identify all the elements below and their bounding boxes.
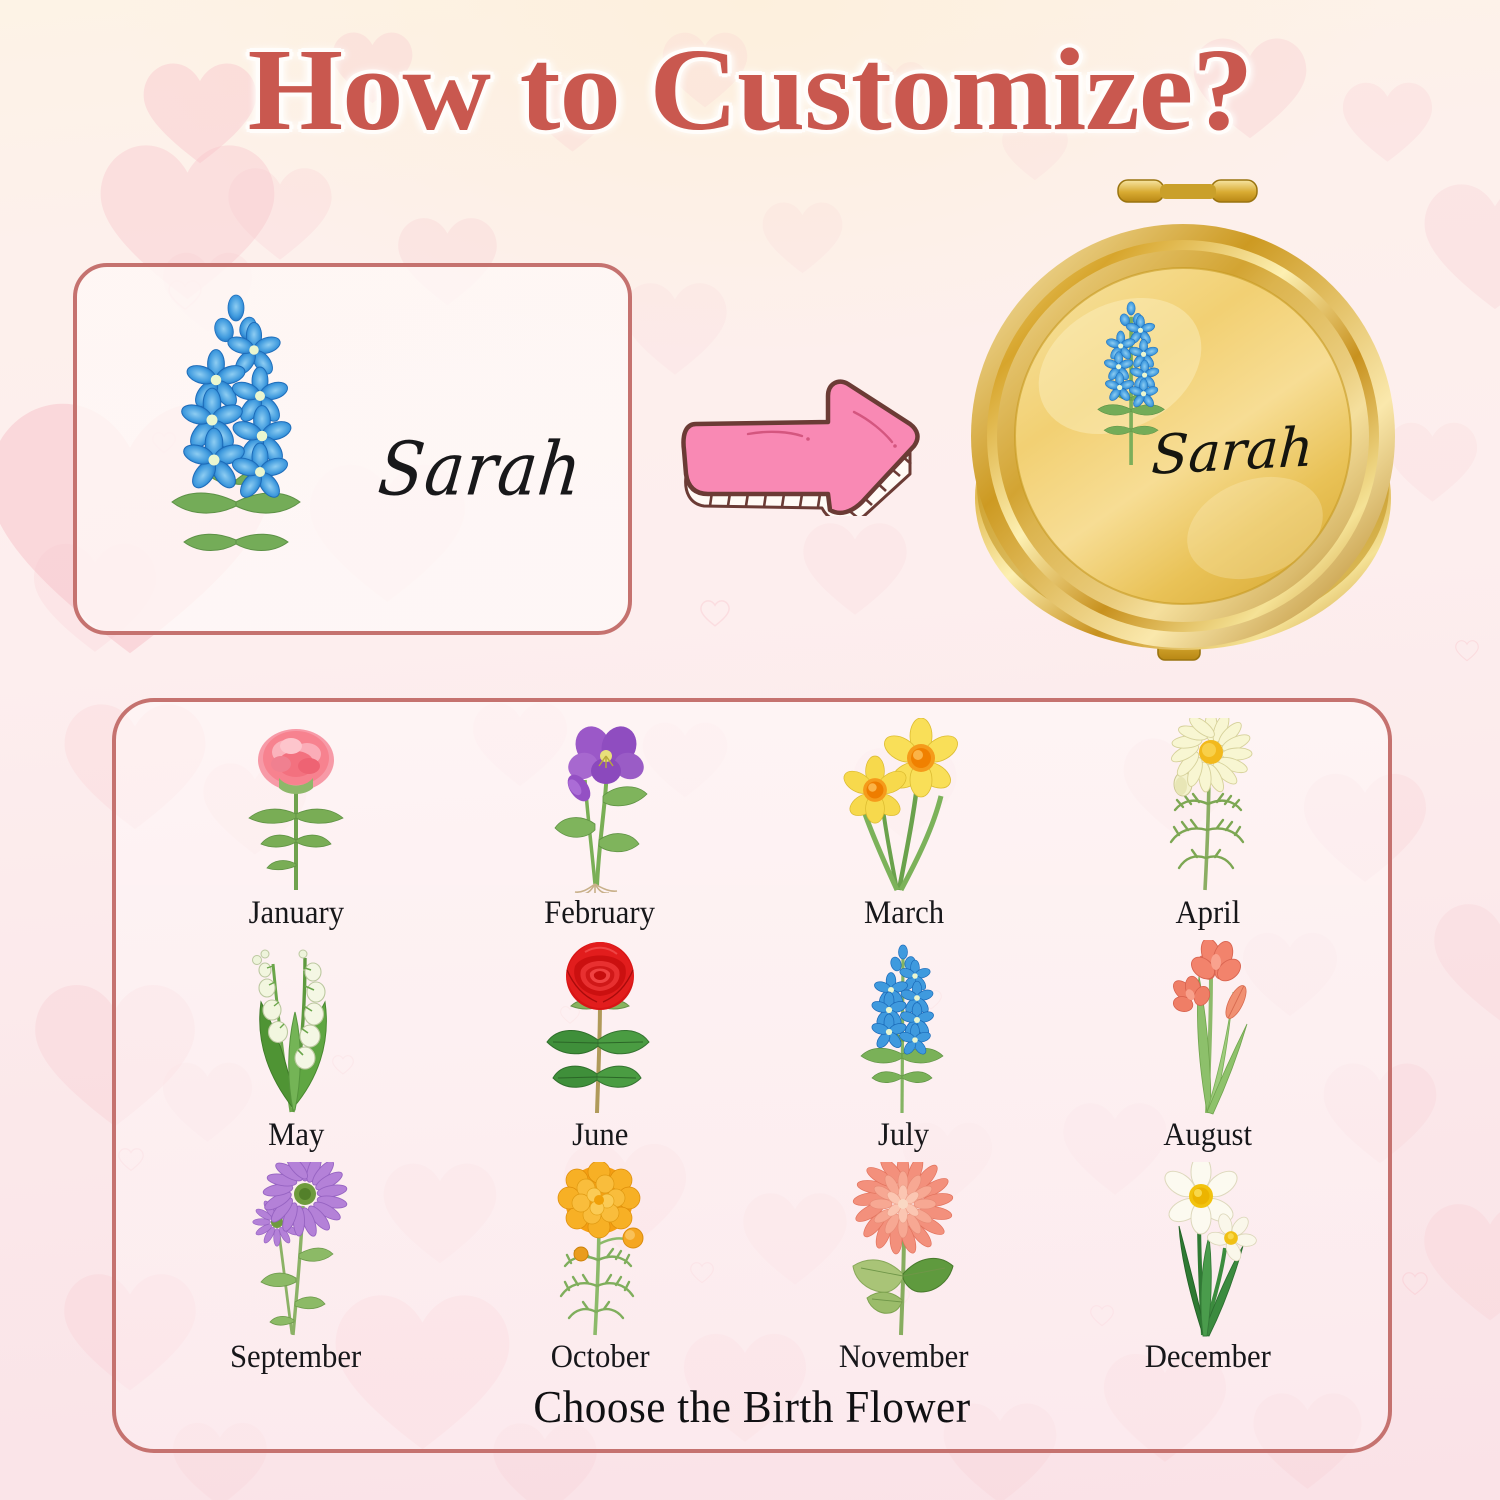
flower-cell-may[interactable]: May (144, 936, 448, 1158)
flower-cell-august[interactable]: August (1056, 936, 1360, 1158)
flower-cell-march[interactable]: March (752, 714, 1056, 936)
month-label: August (1164, 1117, 1253, 1154)
right-arrow-icon (678, 376, 928, 516)
gold-compact-mirror-product: Sarah (955, 168, 1415, 668)
delphinium-flower-icon (829, 940, 979, 1115)
month-label: May (268, 1117, 324, 1154)
chrysanthemum-flower-icon (829, 1162, 979, 1337)
flower-cell-september[interactable]: September (144, 1158, 448, 1380)
month-label: March (864, 895, 944, 932)
flower-cell-july[interactable]: July (752, 936, 1056, 1158)
panel-caption: Choose the Birth Flower (154, 1380, 1350, 1449)
mirror-hinge (1118, 180, 1257, 202)
mirror-engraved-name: Sarah (1150, 415, 1315, 487)
narcissus-flower-icon (1133, 1162, 1283, 1337)
month-label: November (839, 1339, 969, 1376)
birth-flower-grid: January (116, 702, 1388, 1380)
daisy-flower-icon (1133, 718, 1283, 893)
month-label: December (1145, 1339, 1271, 1376)
flower-cell-december[interactable]: December (1056, 1158, 1360, 1380)
flower-cell-january[interactable]: January (144, 714, 448, 936)
flower-cell-february[interactable]: February (448, 714, 752, 936)
flower-cell-april[interactable]: April (1056, 714, 1360, 936)
daffodil-flower-icon (829, 718, 979, 893)
marigold-flower-icon (525, 1162, 675, 1337)
lily-of-the-valley-icon (221, 940, 371, 1115)
month-label: September (230, 1339, 361, 1376)
month-label: June (572, 1117, 628, 1154)
page-title-container: How to Customize? (0, 28, 1500, 152)
aster-flower-icon (221, 1162, 371, 1337)
design-preview-card: Sarah (73, 263, 632, 635)
page-title: How to Customize? (248, 28, 1253, 152)
carnation-flower-icon (221, 718, 371, 893)
flower-cell-june[interactable]: June (448, 936, 752, 1158)
birth-flower-panel: January (112, 698, 1392, 1453)
flower-cell-october[interactable]: October (448, 1158, 752, 1380)
rose-flower-icon (525, 940, 675, 1115)
month-label: February (545, 895, 656, 932)
engraved-name-preview: Sarah (332, 431, 628, 508)
month-label: July (878, 1117, 929, 1154)
gladiolus-flower-icon (1133, 940, 1283, 1115)
month-label: April (1176, 895, 1241, 932)
month-label: January (248, 895, 343, 932)
delphinium-flower-icon (132, 284, 342, 614)
violet-flower-icon (525, 718, 675, 893)
flower-cell-november[interactable]: November (752, 1158, 1056, 1380)
engraved-name-text: Sarah (374, 426, 586, 512)
month-label: October (551, 1339, 650, 1376)
